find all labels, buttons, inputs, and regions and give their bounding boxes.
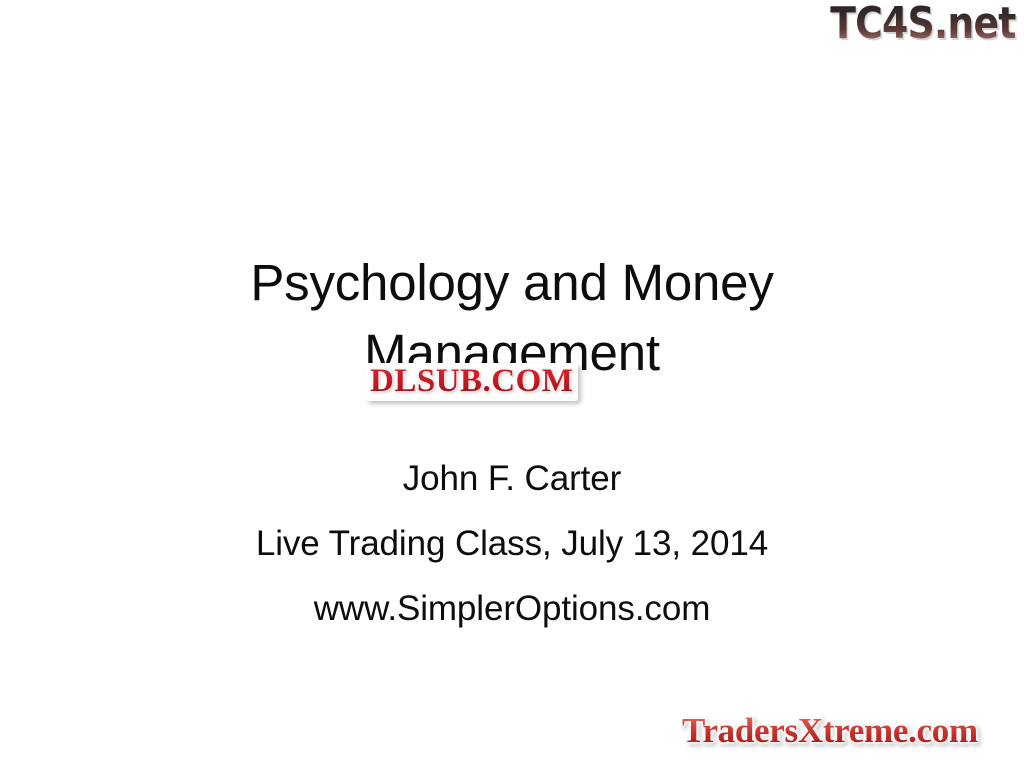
tradersxtreme-watermark: TradersXtreme.com	[682, 711, 978, 751]
subtitle-website: www.SimplerOptions.com	[0, 576, 1024, 641]
slide-title-line-1: Psychology and Money	[0, 248, 1024, 318]
tc4s-net-logo-icon: TC4S.net	[831, 0, 1016, 48]
subtitle-presenter: John F. Carter	[0, 446, 1024, 511]
slide-subtitle: John F. Carter Live Trading Class, July …	[0, 446, 1024, 641]
dlsub-watermark: DLSUB.COM	[365, 363, 578, 401]
dlsub-watermark-text: DLSUB.COM	[370, 365, 573, 398]
tradersxtreme-watermark-text: TradersXtreme.com	[682, 711, 978, 751]
subtitle-event: Live Trading Class, July 13, 2014	[0, 511, 1024, 576]
presentation-slide: TC4S.net Psychology and Money Management…	[0, 0, 1024, 768]
